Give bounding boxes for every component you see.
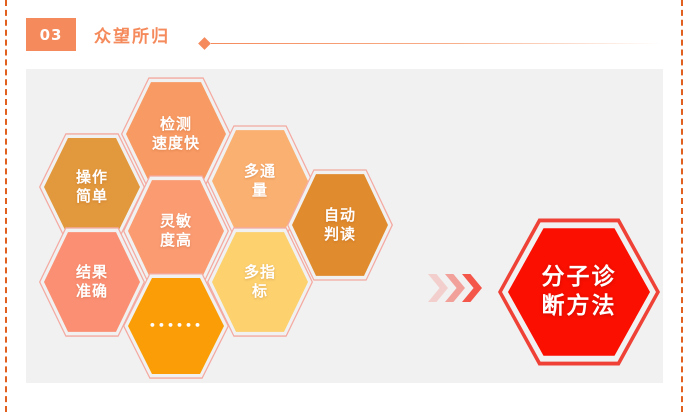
chevron-icon-2 <box>445 274 465 302</box>
hexagon-cell-label: 灵敏 度高 <box>160 212 192 250</box>
page-title: 众望所归 <box>94 22 170 47</box>
section-header: 03 众望所归 <box>26 18 663 52</box>
page-guide-right <box>681 0 683 412</box>
diagram-stage: 操作 简单检测 速度快多通 量自动 判读灵敏 度高多指 标结果 准确••••••… <box>26 69 663 383</box>
page-guide-left <box>5 0 7 412</box>
hexagon-cell-label: 自动 判读 <box>324 206 356 244</box>
chevron-arrows <box>428 274 488 302</box>
diamond-marker-icon <box>198 37 211 50</box>
hexagon-cell-label: 操作 简单 <box>76 168 108 206</box>
result-hexagon: 分子诊 断方法 <box>498 217 660 367</box>
section-number-badge: 03 <box>26 18 76 51</box>
hexagon-cell-label: •••••• <box>149 319 203 333</box>
hexagon-cell-label: 多通 量 <box>244 162 276 200</box>
header-rule <box>211 43 661 44</box>
chevron-icon-1 <box>428 274 448 302</box>
hexagon-cell-label: 结果 准确 <box>76 263 108 301</box>
chevron-icon-3 <box>462 274 482 302</box>
hexagon-cell-label: 多指 标 <box>244 263 276 301</box>
hexagon-cell-label: 检测 速度快 <box>152 115 200 153</box>
result-hexagon-label: 分子诊 断方法 <box>542 263 617 322</box>
